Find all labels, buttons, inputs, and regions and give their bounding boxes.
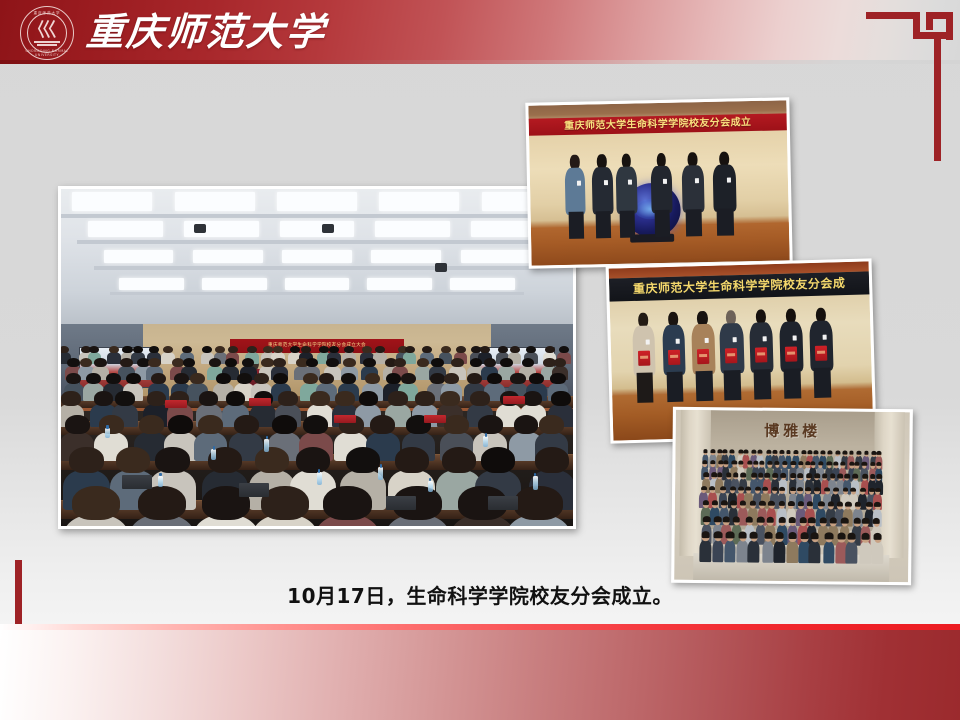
guest-figure <box>682 152 706 242</box>
presentation-slide: 重庆师范大学 巛 CHONGQING NORMAL UNIVERSITY 重庆师… <box>0 0 960 720</box>
attendee-crowd <box>700 447 884 561</box>
launch-ceremony-photo: 重庆师范大学生命科学学院校友分会成立 <box>525 97 792 268</box>
guest-figure <box>713 151 738 241</box>
chinese-corner-ornament-icon-top-right <box>866 8 956 163</box>
award-recipient-figure <box>749 309 775 406</box>
seal-emblem-base <box>32 40 62 46</box>
award-recipient-figure <box>779 308 805 405</box>
seal-arc-bottom-text: CHONGQING NORMAL UNIVERSITY <box>20 49 74 57</box>
auditorium-scene: 重庆师范大学生命科学学院校友分会成立大会 <box>61 189 573 526</box>
slide-header: 重庆师范大学 巛 CHONGQING NORMAL UNIVERSITY 重庆师… <box>0 0 960 64</box>
group-photo: 博雅楼 <box>671 407 913 586</box>
award-recipient-figure <box>719 310 745 407</box>
ceremony-scene: 重庆师范大学生命科学学院校友分会成立 <box>528 100 789 265</box>
slide-caption: 10月17日，生命科学学院校友分会成立。 <box>0 580 960 609</box>
guest-figure <box>616 153 638 243</box>
conference-hall-audience-photo: 重庆师范大学生命科学学院校友分会成立大会 <box>58 186 576 529</box>
group-scene: 博雅楼 <box>674 410 910 582</box>
award-recipient-figure <box>809 307 835 404</box>
award-recipient-figure <box>662 311 687 408</box>
guest-figure <box>591 154 613 244</box>
seal-arc-top-text: 重庆师范大学 <box>20 11 74 16</box>
page-title: 重庆师范大学 <box>84 3 328 61</box>
university-seal-icon: 重庆师范大学 巛 CHONGQING NORMAL UNIVERSITY <box>20 6 74 60</box>
slide-footer-band <box>0 630 960 720</box>
award-recipient-figure <box>690 310 716 407</box>
award-recipient-figure <box>632 312 657 409</box>
guest-figure <box>651 152 673 242</box>
guest-figure <box>564 154 586 244</box>
building-sign: 博雅楼 <box>741 419 844 442</box>
header-underline <box>0 60 960 64</box>
